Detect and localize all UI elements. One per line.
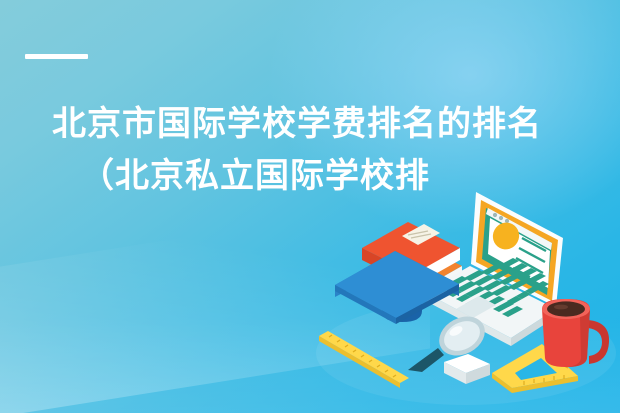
screen-dot-3 [505,219,509,223]
screen-dot-2 [499,216,503,220]
page-title-line-1: 北京市国际学校学费排名的排名 [52,98,620,150]
banner: 北京市国际学校学费排名的排名 （北京私立国际学校排 [0,0,620,413]
mug-coffee-highlight [554,305,568,310]
mug-coffee [547,301,585,316]
accent-rule [25,54,88,59]
study-desk-illustration [316,178,620,413]
screen-dot-1 [493,213,497,217]
coffee-mug [542,299,609,367]
